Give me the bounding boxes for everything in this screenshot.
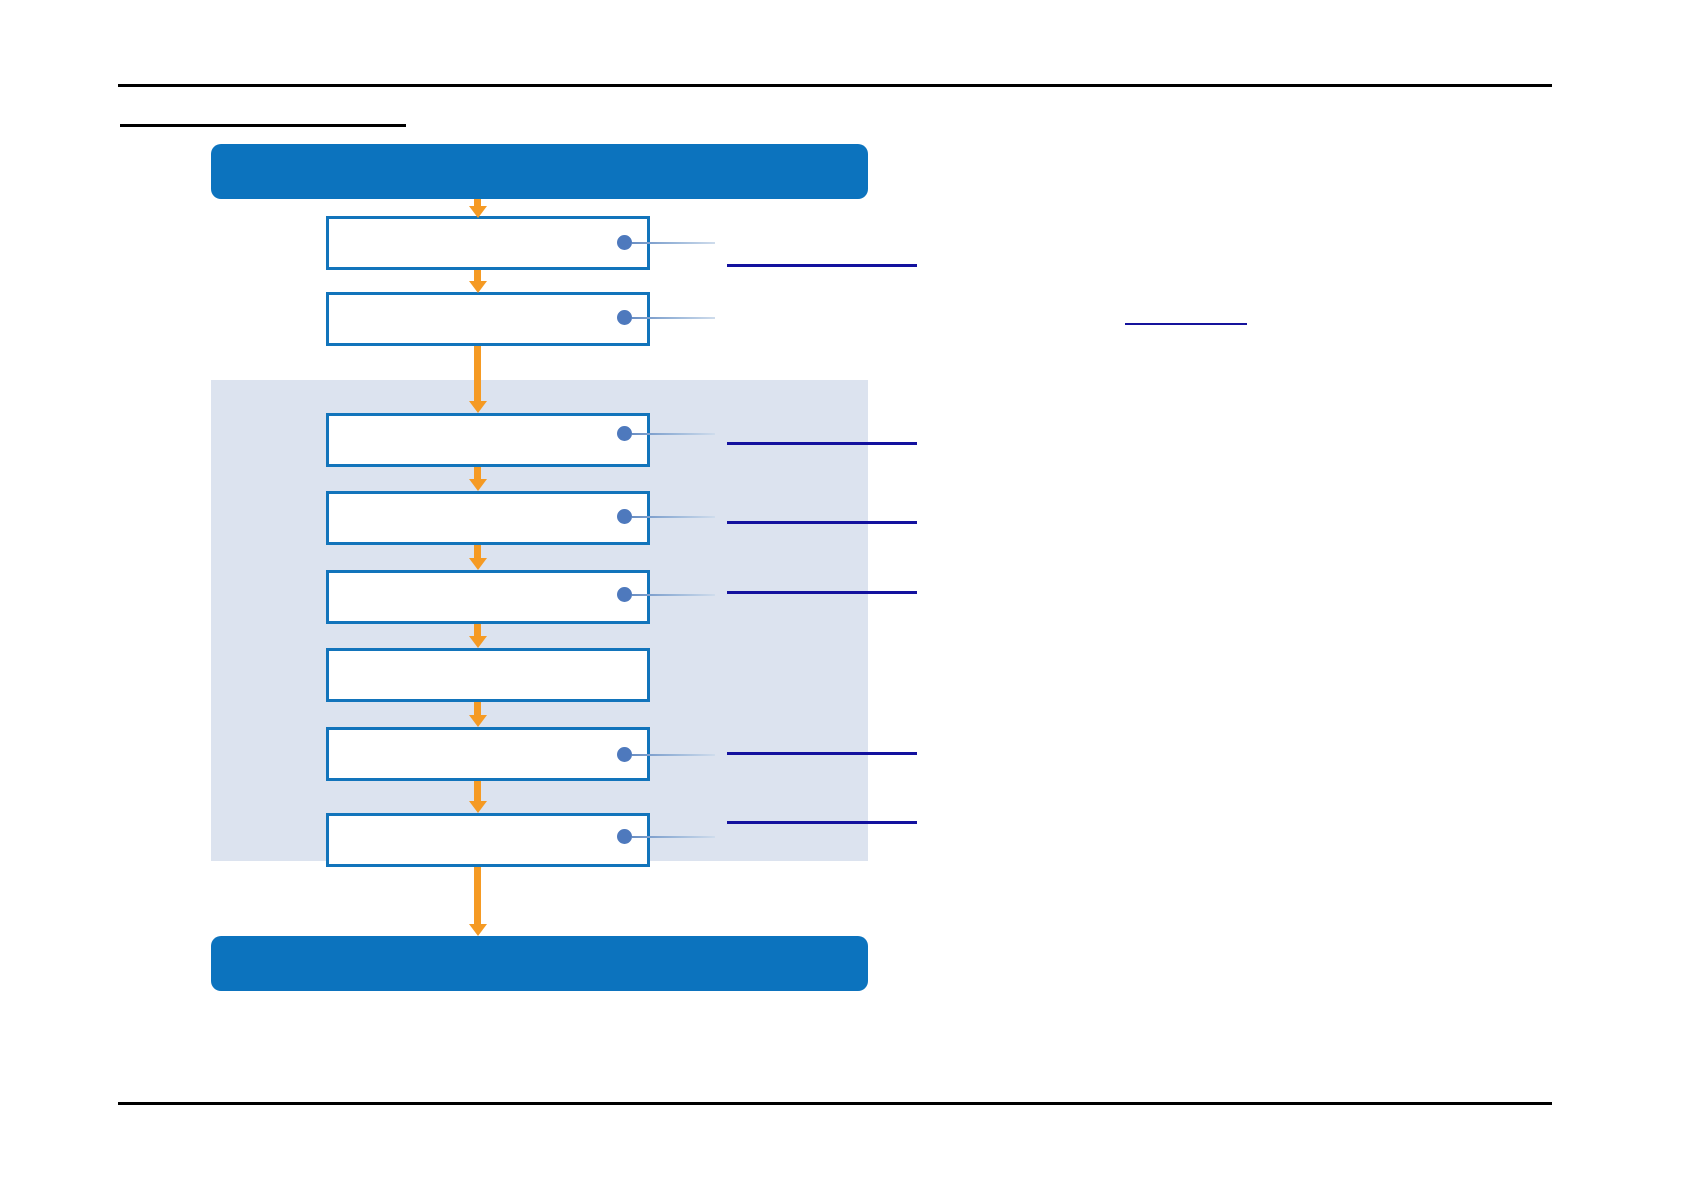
- footer-rule: [118, 1102, 1552, 1105]
- callout-dot-5[interactable]: [617, 587, 632, 602]
- flow-node-step-2[interactable]: [326, 292, 650, 346]
- callout-link-underline-4[interactable]: [727, 521, 917, 524]
- callout-dot-3[interactable]: [617, 426, 632, 441]
- callout-link-underline-7[interactable]: [727, 821, 917, 824]
- flow-node-step-7[interactable]: [326, 727, 650, 781]
- flow-node-end[interactable]: [211, 936, 868, 991]
- callout-dot-4[interactable]: [617, 509, 632, 524]
- callout-dot-1[interactable]: [617, 235, 632, 250]
- flow-node-step-1[interactable]: [326, 216, 650, 270]
- callout-link-underline-1[interactable]: [727, 264, 917, 267]
- callout-dot-2[interactable]: [617, 310, 632, 325]
- callout-leader-line-5: [632, 594, 715, 596]
- callout-leader-line-3: [632, 433, 715, 435]
- callout-dot-6[interactable]: [617, 747, 632, 762]
- flow-node-step-6[interactable]: [326, 648, 650, 702]
- flow-node-step-4[interactable]: [326, 491, 650, 545]
- callout-leader-line-6: [632, 754, 715, 756]
- flow-node-start[interactable]: [211, 144, 868, 199]
- flow-node-step-3[interactable]: [326, 413, 650, 467]
- callout-leader-line-7: [632, 836, 715, 838]
- callout-link-underline-3[interactable]: [727, 442, 917, 445]
- callout-leader-line-4: [632, 516, 715, 518]
- flow-node-step-5[interactable]: [326, 570, 650, 624]
- callout-link-underline-5[interactable]: [727, 591, 917, 594]
- callout-link-underline-6[interactable]: [727, 752, 917, 755]
- header-rule: [118, 84, 1552, 87]
- callout-link-underline-2[interactable]: [1125, 323, 1247, 325]
- callout-leader-line-2: [632, 317, 715, 319]
- flow-node-step-8[interactable]: [326, 813, 650, 867]
- callout-leader-line-1: [632, 242, 715, 244]
- callout-dot-7[interactable]: [617, 829, 632, 844]
- section-heading-underline: [120, 124, 406, 127]
- document-page: [0, 0, 1684, 1191]
